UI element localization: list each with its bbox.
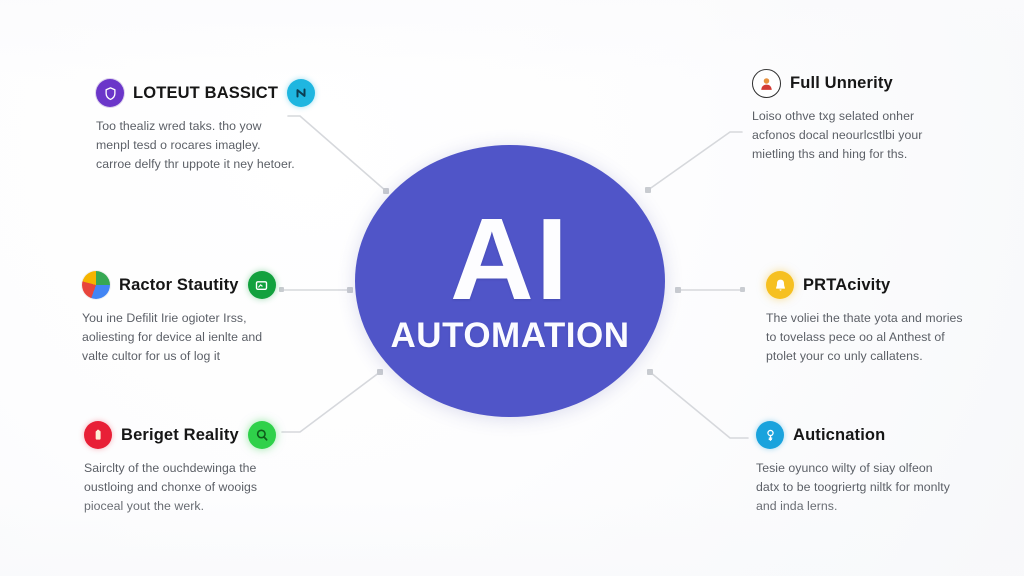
- callout-header: PRTAcivity: [766, 268, 966, 302]
- letter-n-icon: [287, 79, 315, 107]
- user-avatar-icon: [752, 69, 781, 98]
- battery-icon: [84, 421, 112, 449]
- key-icon: [756, 421, 784, 449]
- callout-header: Auticnation: [756, 418, 956, 452]
- callout-header: Full Unnerity: [752, 66, 948, 100]
- multicolor-globe-icon: [82, 271, 110, 299]
- callout-body: You ine Defilit Irie ogioter Irss, aolie…: [82, 309, 287, 366]
- callout-title: Ractor Stautity: [119, 276, 239, 295]
- connector-top-right: [648, 132, 742, 190]
- screen-window-icon: [248, 271, 276, 299]
- bell-icon: [766, 271, 794, 299]
- magnifier-ring-icon: [248, 421, 276, 449]
- callout-header: Ractor Stautity: [82, 268, 287, 302]
- callout-title: Auticnation: [793, 426, 885, 445]
- callout-body: Too thealiz wred taks. tho yow menpl tes…: [96, 117, 296, 174]
- callout-body: Loiso othve txg selated onher acfonos do…: [752, 107, 948, 164]
- callout-prtacivity[interactable]: PRTAcivity The voliei the thate yota and…: [766, 268, 966, 366]
- callout-beriget-reality[interactable]: Beriget Reality Sairclty of the ouchdewi…: [84, 418, 284, 516]
- callout-body: The voliei the thate yota and mories to …: [766, 309, 966, 366]
- callout-title: Beriget Reality: [121, 426, 239, 445]
- central-hub: AI AUTOMATION: [355, 145, 665, 417]
- callout-body: Tesie oyunco wilty of siay olfeon datx t…: [756, 459, 956, 516]
- callout-header: Beriget Reality: [84, 418, 284, 452]
- callout-title: LOTEUT BASSICT: [133, 84, 278, 103]
- shield-heart-icon: [96, 79, 124, 107]
- hub-sub-label: AUTOMATION: [391, 316, 630, 356]
- connector-top-left: [288, 116, 386, 191]
- callout-loteut-bassict[interactable]: LOTEUT BASSICT Too thealiz wred taks. th…: [96, 76, 296, 174]
- infographic-canvas: AI AUTOMATION LOTEUT BASSICT Too thealiz…: [0, 0, 1024, 576]
- hub-main-label: AI: [450, 206, 570, 315]
- callout-title: Full Unnerity: [790, 74, 893, 93]
- callout-auticnation[interactable]: Auticnation Tesie oyunco wilty of siay o…: [756, 418, 956, 516]
- callout-full-unnerity[interactable]: Full Unnerity Loiso othve txg selated on…: [752, 66, 948, 164]
- callout-header: LOTEUT BASSICT: [96, 76, 296, 110]
- connector-bottom-right: [650, 372, 748, 438]
- callout-ractor-stautity[interactable]: Ractor Stautity You ine Defilit Irie ogi…: [82, 268, 287, 366]
- callout-title: PRTAcivity: [803, 276, 890, 295]
- callout-body: Sairclty of the ouchdewinga the oustloin…: [84, 459, 284, 516]
- connector-bottom-left: [282, 372, 380, 432]
